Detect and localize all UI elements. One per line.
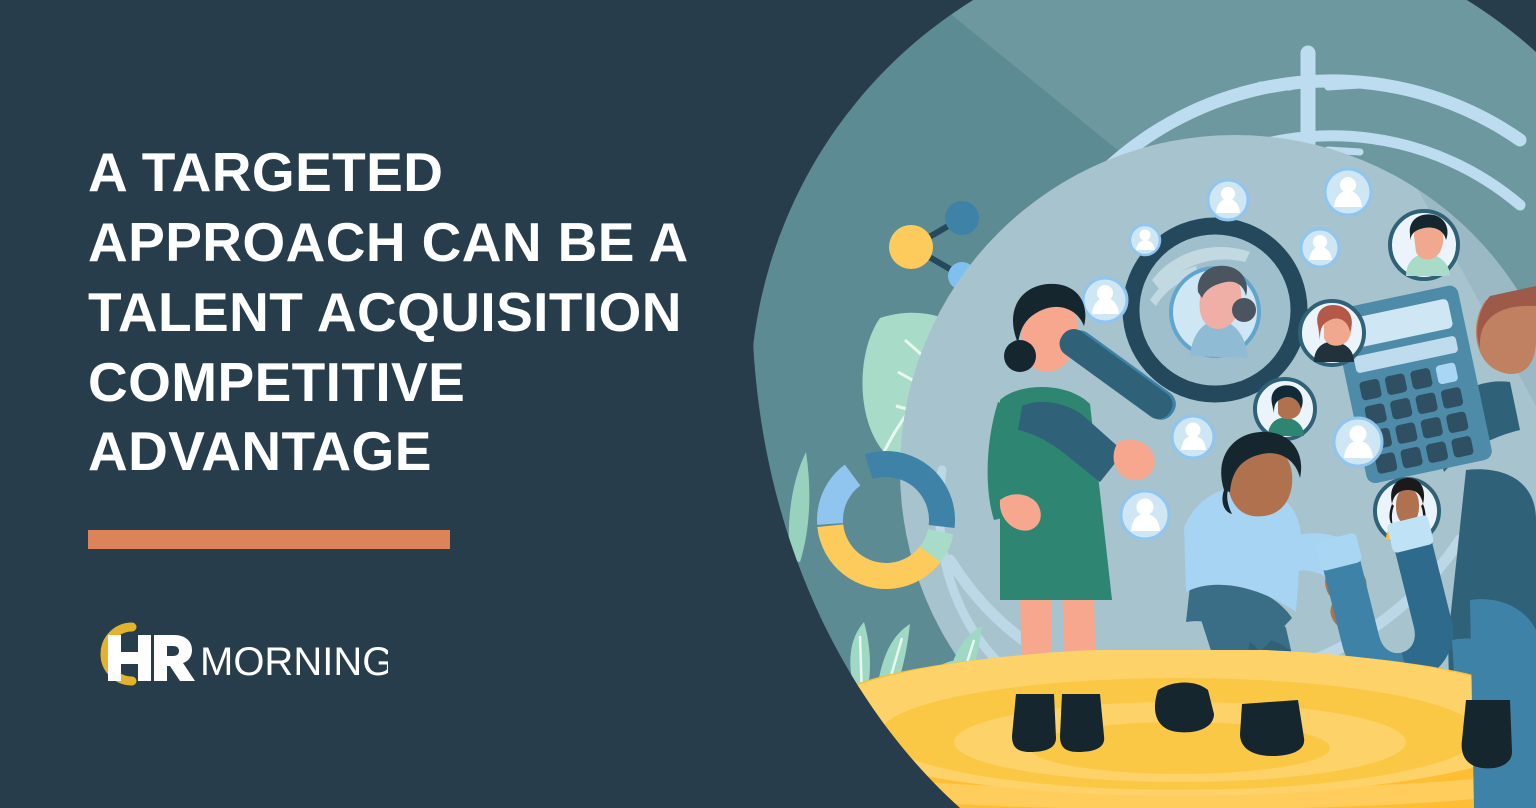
accent-divider [88, 530, 450, 549]
avatar-generic-2 [1325, 169, 1371, 215]
avatar-generic-7 [1121, 491, 1169, 539]
avatar-dark-hair-man [1390, 211, 1458, 279]
avatar-black-hair-man [1255, 379, 1315, 439]
avatar-generic-4 [1301, 229, 1339, 267]
avatar-generic-5 [1172, 416, 1214, 458]
logo-wordmark: MORNING [200, 640, 388, 684]
avatar-red-hair [1300, 301, 1364, 365]
avatar-generic-1 [1208, 180, 1248, 220]
avatar-generic-8 [1130, 225, 1160, 255]
avatar-generic-3 [1083, 278, 1127, 322]
banner-canvas: A targeted approach can be a talent acqu… [0, 0, 1536, 808]
headline-block: A targeted approach can be a talent acqu… [88, 138, 708, 487]
hrmorning-logo[interactable]: MORNING [88, 618, 388, 698]
page-title: A targeted approach can be a talent acqu… [88, 138, 708, 487]
avatar-generic-6 [1334, 418, 1382, 466]
